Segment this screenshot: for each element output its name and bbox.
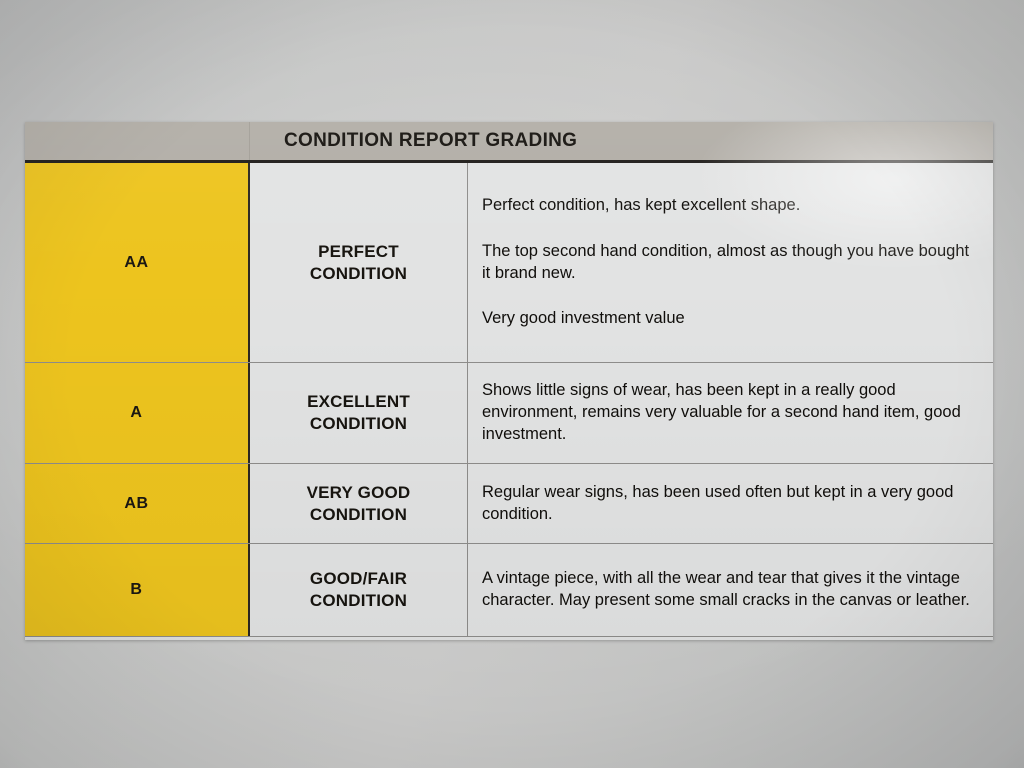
condition-label-line1: PERFECT bbox=[318, 242, 399, 261]
condition-cell-ab: VERY GOODCONDITION bbox=[250, 464, 468, 543]
description-cell-ab: Regular wear signs, has been used often … bbox=[468, 464, 993, 543]
description-cell-a: Shows little signs of wear, has been kep… bbox=[468, 363, 993, 463]
condition-report-grading-table: CONDITION REPORT GRADING AA PERFECTCONDI… bbox=[25, 122, 993, 640]
table-row-a: A EXCELLENTCONDITION Shows little signs … bbox=[25, 363, 993, 464]
description-paragraph: Shows little signs of wear, has been kep… bbox=[482, 380, 977, 446]
grade-label: B bbox=[130, 581, 142, 599]
grade-label: A bbox=[130, 404, 142, 422]
description-cell-aa: Perfect condition, has kept excellent sh… bbox=[468, 163, 993, 362]
condition-cell-a: EXCELLENTCONDITION bbox=[250, 363, 468, 463]
page-title: CONDITION REPORT GRADING bbox=[284, 130, 577, 152]
description-paragraph: Perfect condition, has kept excellent sh… bbox=[482, 195, 977, 217]
condition-label-line1: VERY GOOD bbox=[307, 483, 411, 502]
description-paragraph: A vintage piece, with all the wear and t… bbox=[482, 568, 977, 612]
table-header-blank-cell bbox=[25, 122, 250, 160]
condition-label-line2: CONDITION bbox=[310, 264, 407, 283]
condition-label: PERFECTCONDITION bbox=[310, 241, 407, 285]
description-cell-b: A vintage piece, with all the wear and t… bbox=[468, 544, 993, 636]
condition-label: VERY GOODCONDITION bbox=[307, 482, 411, 526]
table-row-b: B GOOD/FAIRCONDITION A vintage piece, wi… bbox=[25, 544, 993, 637]
condition-label-line1: EXCELLENT bbox=[307, 392, 410, 411]
grade-label: AA bbox=[124, 254, 148, 272]
table-header-row: CONDITION REPORT GRADING bbox=[25, 122, 993, 163]
grade-cell-a: A bbox=[25, 363, 250, 463]
condition-label-line1: GOOD/FAIR bbox=[310, 569, 407, 588]
table-row-aa: AA PERFECTCONDITION Perfect condition, h… bbox=[25, 163, 993, 363]
description-paragraph: Very good investment value bbox=[482, 308, 977, 330]
condition-label-line2: CONDITION bbox=[310, 505, 407, 524]
table-header-title-cell: CONDITION REPORT GRADING bbox=[250, 122, 993, 160]
condition-cell-b: GOOD/FAIRCONDITION bbox=[250, 544, 468, 636]
grade-cell-ab: AB bbox=[25, 464, 250, 543]
condition-label-line2: CONDITION bbox=[310, 414, 407, 433]
condition-label-line2: CONDITION bbox=[310, 591, 407, 610]
description-paragraph: The top second hand condition, almost as… bbox=[482, 241, 977, 285]
condition-label: GOOD/FAIRCONDITION bbox=[310, 568, 407, 612]
grade-cell-b: B bbox=[25, 544, 250, 636]
table-row-ab: AB VERY GOODCONDITION Regular wear signs… bbox=[25, 464, 993, 544]
condition-cell-aa: PERFECTCONDITION bbox=[250, 163, 468, 362]
grade-label: AB bbox=[124, 495, 148, 513]
condition-label: EXCELLENTCONDITION bbox=[307, 391, 410, 435]
grade-cell-aa: AA bbox=[25, 163, 250, 362]
description-paragraph: Regular wear signs, has been used often … bbox=[482, 482, 977, 526]
